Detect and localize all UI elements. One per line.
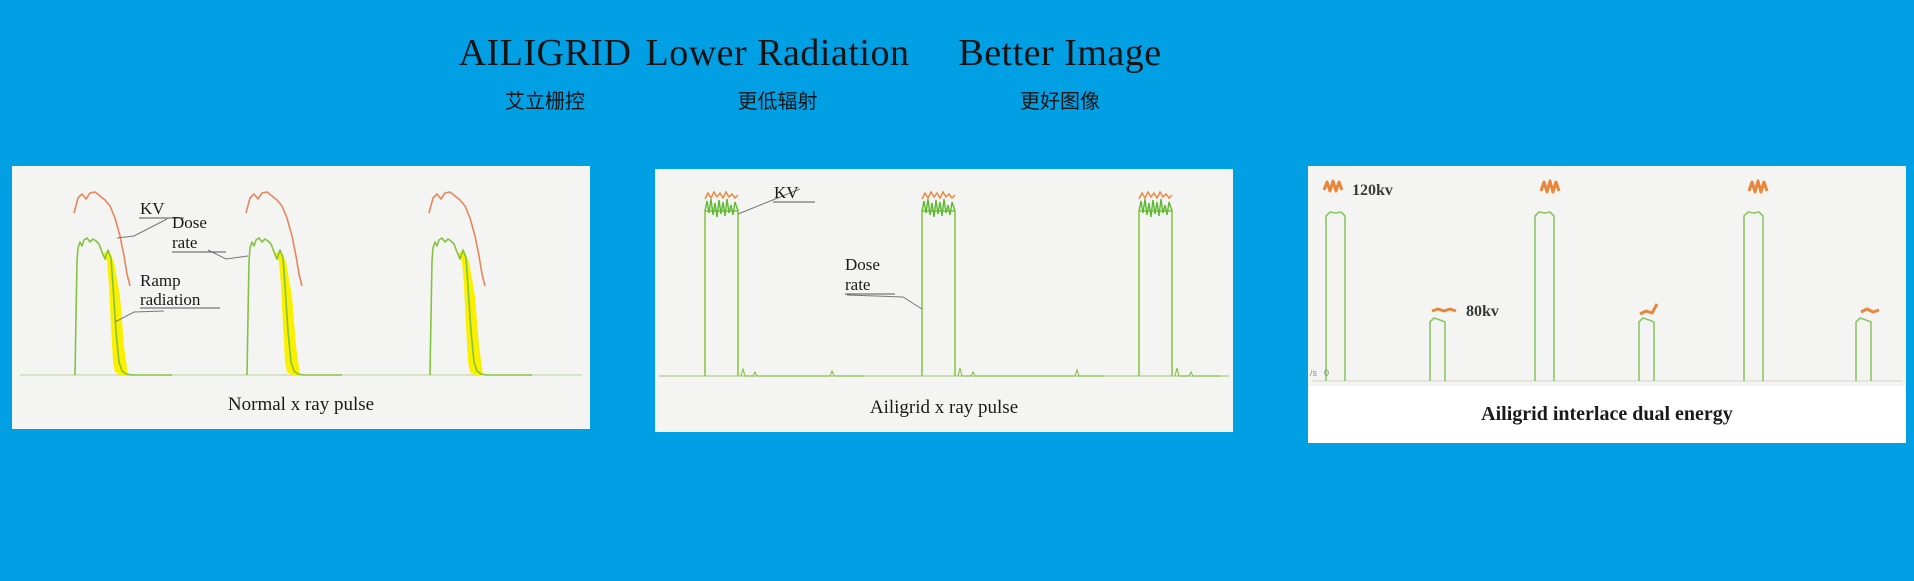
chart-panel-interlace-dual-energy: 120kv 80kv /s	[1308, 166, 1906, 443]
kv-trace-2	[922, 192, 955, 199]
annotation-label-dose-line1: Dose	[172, 213, 207, 232]
kv-low-markers	[1640, 304, 1879, 314]
pulse-120kv-1	[1326, 212, 1345, 381]
caption-normal-x-ray-pulse: Normal x ray pulse	[228, 394, 374, 416]
caption-interlace-dual-energy: Ailigrid interlace dual energy	[1481, 403, 1733, 426]
header-group-ailigrid: AILIGRID 艾立栅控	[430, 30, 660, 116]
dose-rate-trace-3	[1139, 211, 1172, 376]
header-title-en-1: Lower Radiation	[635, 30, 920, 76]
pulse-120kv-2	[1535, 212, 1554, 381]
baseline-ripple-2	[958, 368, 1105, 376]
pulses-80kv	[1430, 318, 1871, 381]
pulse-120kv-3	[1744, 212, 1763, 381]
dose-rate-noise-3	[1139, 199, 1172, 217]
annotation-label-dose-line1: Dose	[845, 255, 880, 274]
annotation-dose-rate: Dose rate	[845, 255, 922, 309]
chart-ailigrid-x-ray-pulse: KV Dose rate	[655, 169, 1233, 384]
caption-bar-panel-1: Ailigrid x ray pulse	[655, 383, 1233, 432]
header-title-en-0: AILIGRID	[430, 30, 660, 76]
baseline-ripple-1	[741, 369, 865, 376]
kv-low-marker-3-icon	[1861, 309, 1879, 312]
kv-trace-3	[1139, 192, 1172, 199]
caption-bar-panel-2: Ailigrid interlace dual energy	[1308, 386, 1906, 443]
header-title-en-2: Better Image	[935, 30, 1185, 76]
y-axis-origin: /s 0	[1310, 368, 1329, 378]
kv-high-marker-3-icon	[1749, 181, 1767, 192]
caption-bar-panel-0: Normal x ray pulse	[12, 381, 590, 429]
y-axis-unit-label: /s	[1310, 368, 1318, 378]
pulse-group-2	[246, 192, 342, 375]
legend-item-80kv: 80kv	[1432, 303, 1499, 320]
leader-line-dose-rate	[847, 295, 922, 309]
kv-high-marker-2-icon	[1541, 181, 1559, 192]
chart-panel-ailigrid-pulse: KV Dose rate Ailigrid x ray pulse	[655, 169, 1233, 432]
annotation-dose-rate: Dose rate	[172, 213, 248, 259]
header-group-better-image: Better Image 更好图像	[935, 30, 1185, 116]
pulse-80kv-3	[1856, 318, 1871, 381]
pulse-80kv-2	[1639, 318, 1654, 381]
pulse-80kv-1	[1430, 318, 1445, 381]
dose-rate-trace-2	[922, 211, 955, 376]
baseline-ripple-3	[1175, 368, 1221, 376]
chart-normal-x-ray-pulse: KV Dose rate Ramp radiation	[12, 166, 590, 382]
kv-high-marker-icon	[1324, 181, 1342, 191]
header-title-cn-1: 更低辐射	[635, 86, 920, 116]
kv-low-marker-2-icon	[1640, 304, 1657, 314]
annotation-label-dose-line2: rate	[172, 233, 197, 252]
dose-rate-noise-2	[922, 199, 955, 217]
kv-high-markers	[1541, 181, 1767, 192]
header-title-cn-0: 艾立栅控	[430, 86, 660, 116]
kv-trace-1	[74, 192, 130, 286]
pulses-120kv	[1326, 212, 1763, 381]
chart-ailigrid-interlace-dual-energy: 120kv 80kv /s	[1308, 166, 1906, 386]
annotation-label-kv: KV	[140, 199, 165, 218]
header-title-cn-2: 更好图像	[935, 86, 1185, 116]
kv-low-marker-icon	[1432, 309, 1456, 311]
annotation-label-dose-line2: rate	[845, 275, 870, 294]
pulse-group-3	[1139, 192, 1221, 376]
kv-trace-1	[705, 192, 738, 199]
dose-rate-noise-1	[705, 199, 738, 217]
annotation-ramp-radiation: Ramp radiation	[115, 271, 220, 322]
y-axis-origin-label: 0	[1324, 368, 1329, 378]
leader-line-ramp-radiation	[115, 311, 164, 322]
header-group-lower-radiation: Lower Radiation 更低辐射	[635, 30, 920, 116]
annotation-label-ramp-line1: Ramp	[140, 271, 181, 290]
header-banner: AILIGRID 艾立栅控 Lower Radiation 更低辐射 Bette…	[0, 0, 1914, 160]
legend-label-120kv: 120kv	[1352, 182, 1393, 199]
legend-item-120kv: 120kv	[1324, 181, 1393, 199]
pulse-group-3	[429, 192, 532, 375]
annotation-label-ramp-line2: radiation	[140, 290, 201, 309]
annotation-label-kv: KV	[774, 183, 799, 202]
annotation-kv: KV	[738, 183, 815, 214]
kv-trace-3	[429, 192, 485, 286]
dose-rate-trace-3	[430, 238, 532, 375]
leader-line-dose-rate	[208, 250, 248, 259]
caption-ailigrid-x-ray-pulse: Ailigrid x ray pulse	[870, 397, 1018, 419]
pulse-group-1	[705, 192, 865, 376]
pulse-group-2	[922, 192, 1105, 376]
chart-panel-normal-pulse: KV Dose rate Ramp radiation Normal x ray…	[12, 166, 590, 429]
kv-trace-2	[246, 192, 302, 286]
legend-label-80kv: 80kv	[1466, 303, 1499, 320]
dose-rate-trace-1	[705, 211, 738, 376]
leader-line-kv	[117, 219, 167, 238]
